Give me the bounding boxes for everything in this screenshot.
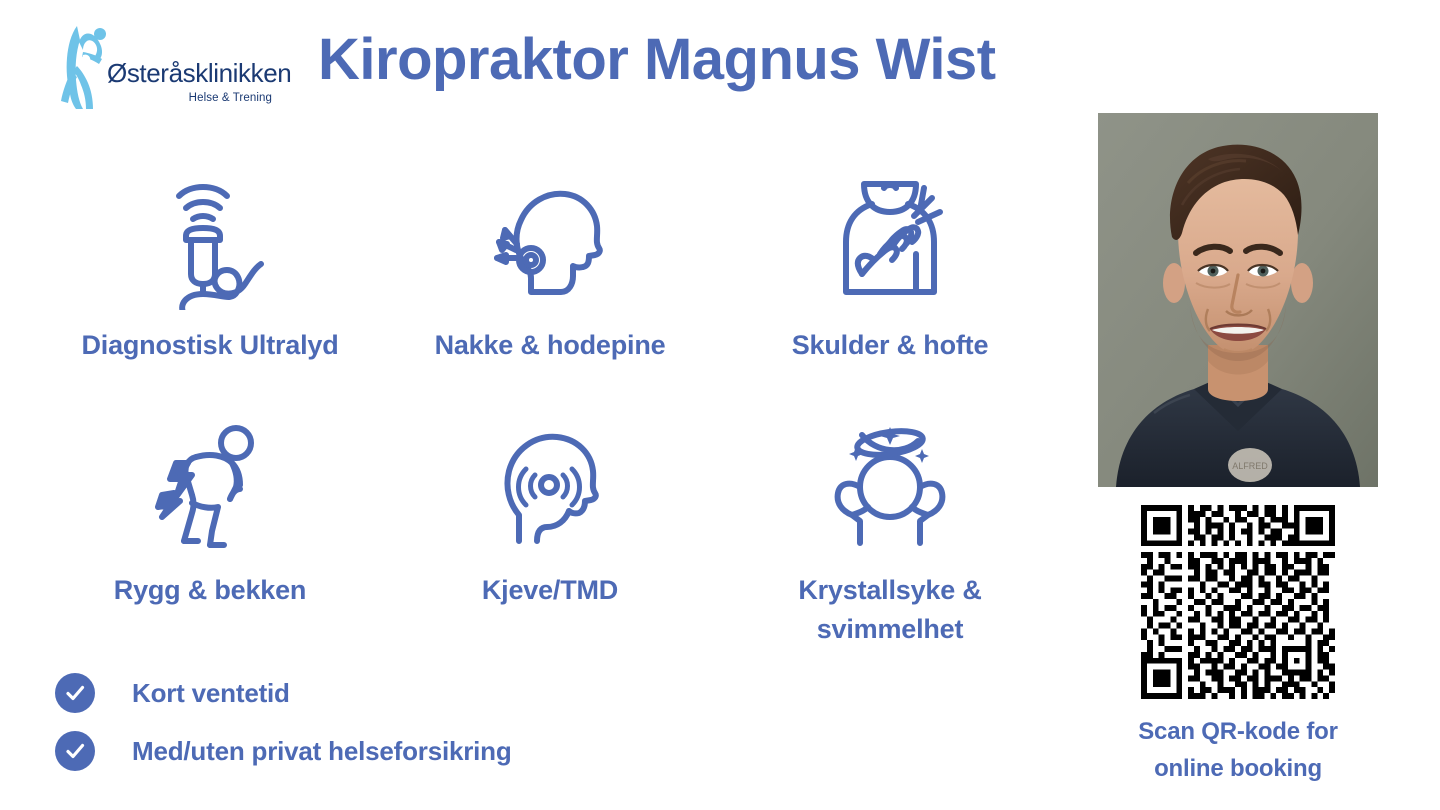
benefit-item: Med/uten privat helseforsikring	[55, 722, 675, 780]
service-label: Skulder & hofte	[792, 326, 989, 365]
service-label: Nakke & hodepine	[435, 326, 666, 365]
clinic-logo: Østeråsklinikken Helse & Trening	[55, 22, 270, 112]
jaw-tmd-icon	[485, 415, 615, 555]
service-label: Diagnostisk Ultralyd	[81, 326, 338, 365]
dizziness-vertigo-icon	[818, 415, 963, 555]
svg-text:ALFRED: ALFRED	[1232, 461, 1268, 471]
service-grid: Diagnostisk Ultralyd Nakke & hodepine	[40, 170, 1060, 660]
page-title: Kiropraktor Magnus Wist	[318, 28, 996, 92]
qr-code-icon[interactable]	[1141, 505, 1335, 699]
back-pelvis-pain-icon	[140, 415, 280, 555]
service-item-krystallsyke-svimmelhet: Krystallsyke & svimmelhet	[720, 415, 1060, 660]
qr-caption: Scan QR-kode for online booking	[1098, 713, 1378, 787]
service-label: Krystallsyke & svimmelhet	[755, 571, 1025, 649]
benefit-label: Med/uten privat helseforsikring	[132, 736, 512, 767]
logo-name: Østeråsklinikken	[107, 60, 272, 86]
shoulder-hip-pain-icon	[820, 170, 960, 310]
service-item-rygg-bekken: Rygg & bekken	[40, 415, 380, 660]
ultrasound-probe-icon	[145, 170, 275, 310]
qr-caption-line2: online booking	[1098, 750, 1378, 787]
check-circle-icon	[55, 673, 95, 713]
benefit-item: Kort ventetid	[55, 664, 675, 722]
qr-caption-line1: Scan QR-kode for	[1098, 713, 1378, 750]
service-item-skulder-hofte: Skulder & hofte	[720, 170, 1060, 415]
benefit-label: Kort ventetid	[132, 678, 290, 709]
check-circle-icon	[55, 731, 95, 771]
service-label: Kjeve/TMD	[482, 571, 618, 610]
service-item-nakke-hodepine: Nakke & hodepine	[380, 170, 720, 415]
qr-booking-block: Scan QR-kode for online booking	[1098, 505, 1378, 787]
service-label: Rygg & bekken	[114, 571, 306, 610]
logo-tagline: Helse & Trening	[107, 92, 272, 104]
benefits-list: Kort ventetid Med/uten privat helseforsi…	[55, 664, 675, 780]
service-item-kjeve-tmd: Kjeve/TMD	[380, 415, 720, 660]
practitioner-portrait-photo: ALFRED	[1098, 113, 1378, 487]
head-neck-pain-icon	[475, 170, 625, 310]
service-item-diagnostisk-ultralyd: Diagnostisk Ultralyd	[40, 170, 380, 415]
